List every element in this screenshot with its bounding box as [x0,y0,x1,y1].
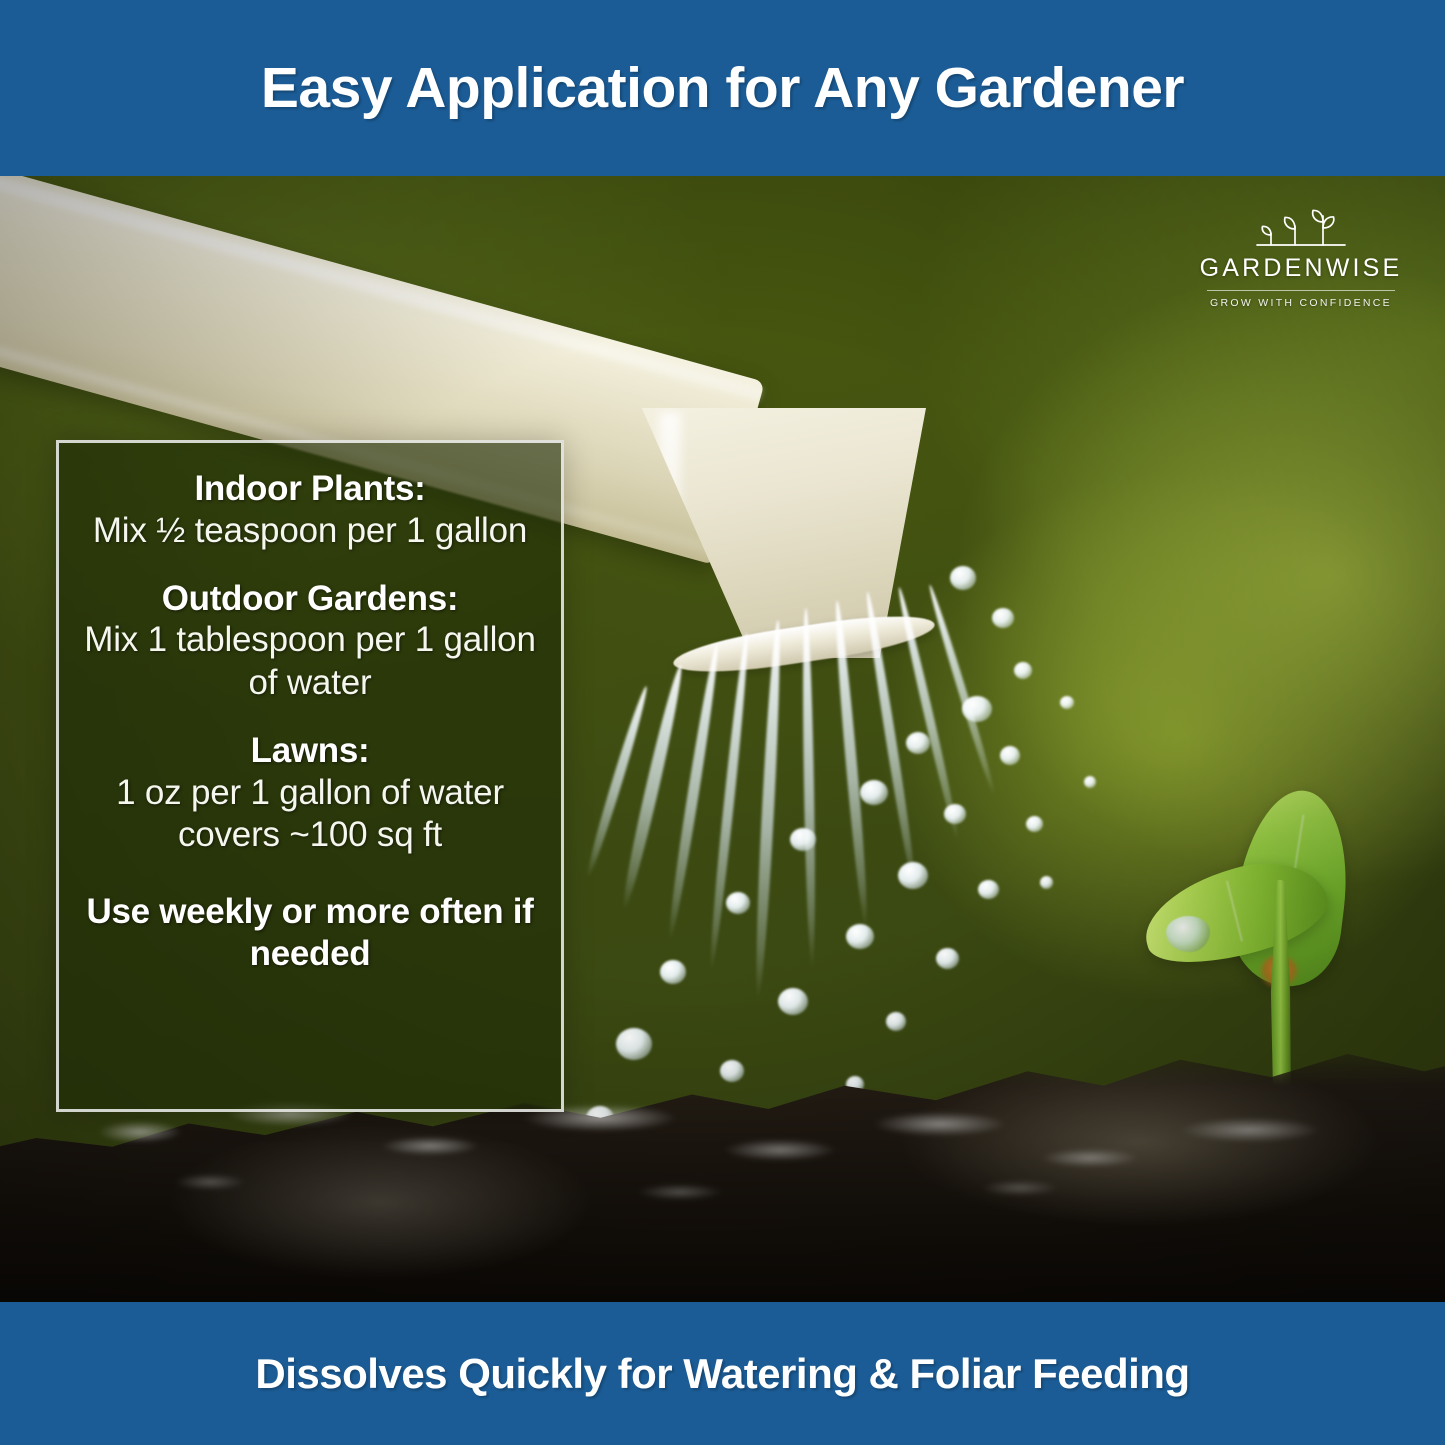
instruction-heading: Indoor Plants: [83,469,537,509]
instruction-heading: Outdoor Gardens: [83,579,537,619]
application-instructions-panel: Indoor Plants: Mix ½ teaspoon per 1 gall… [56,440,564,1112]
infographic-canvas: Easy Application for Any Gardener [0,0,1445,1445]
top-banner: Easy Application for Any Gardener [0,0,1445,176]
instruction-heading: Lawns: [83,731,537,771]
instruction-block-outdoor: Outdoor Gardens: Mix 1 tablespoon per 1 … [83,579,537,705]
brand-divider [1207,290,1395,291]
sprout-leaves-icon [1181,200,1421,250]
bottom-banner-title: Dissolves Quickly for Watering & Foliar … [255,1350,1189,1398]
product-photo: GARDENWISE GROW WITH CONFIDENCE Indoor P… [0,176,1445,1302]
brand-name: GARDENWISE [1181,254,1421,283]
instruction-body: Mix 1 tablespoon per 1 gallon of water [83,619,537,704]
top-banner-title: Easy Application for Any Gardener [261,55,1184,121]
instruction-block-lawns: Lawns: 1 oz per 1 gallon of water covers… [83,731,537,857]
brand-tagline: GROW WITH CONFIDENCE [1181,297,1421,309]
brand-logo: GARDENWISE GROW WITH CONFIDENCE [1181,200,1421,309]
bottom-banner: Dissolves Quickly for Watering & Foliar … [0,1302,1445,1445]
instruction-body: 1 oz per 1 gallon of water covers ~100 s… [83,772,537,857]
instruction-body: Mix ½ teaspoon per 1 gallon [83,510,537,553]
instruction-frequency-note: Use weekly or more often if needed [83,891,537,975]
instruction-block-indoor: Indoor Plants: Mix ½ teaspoon per 1 gall… [83,469,537,553]
instruction-block-frequency: Use weekly or more often if needed [83,891,537,975]
